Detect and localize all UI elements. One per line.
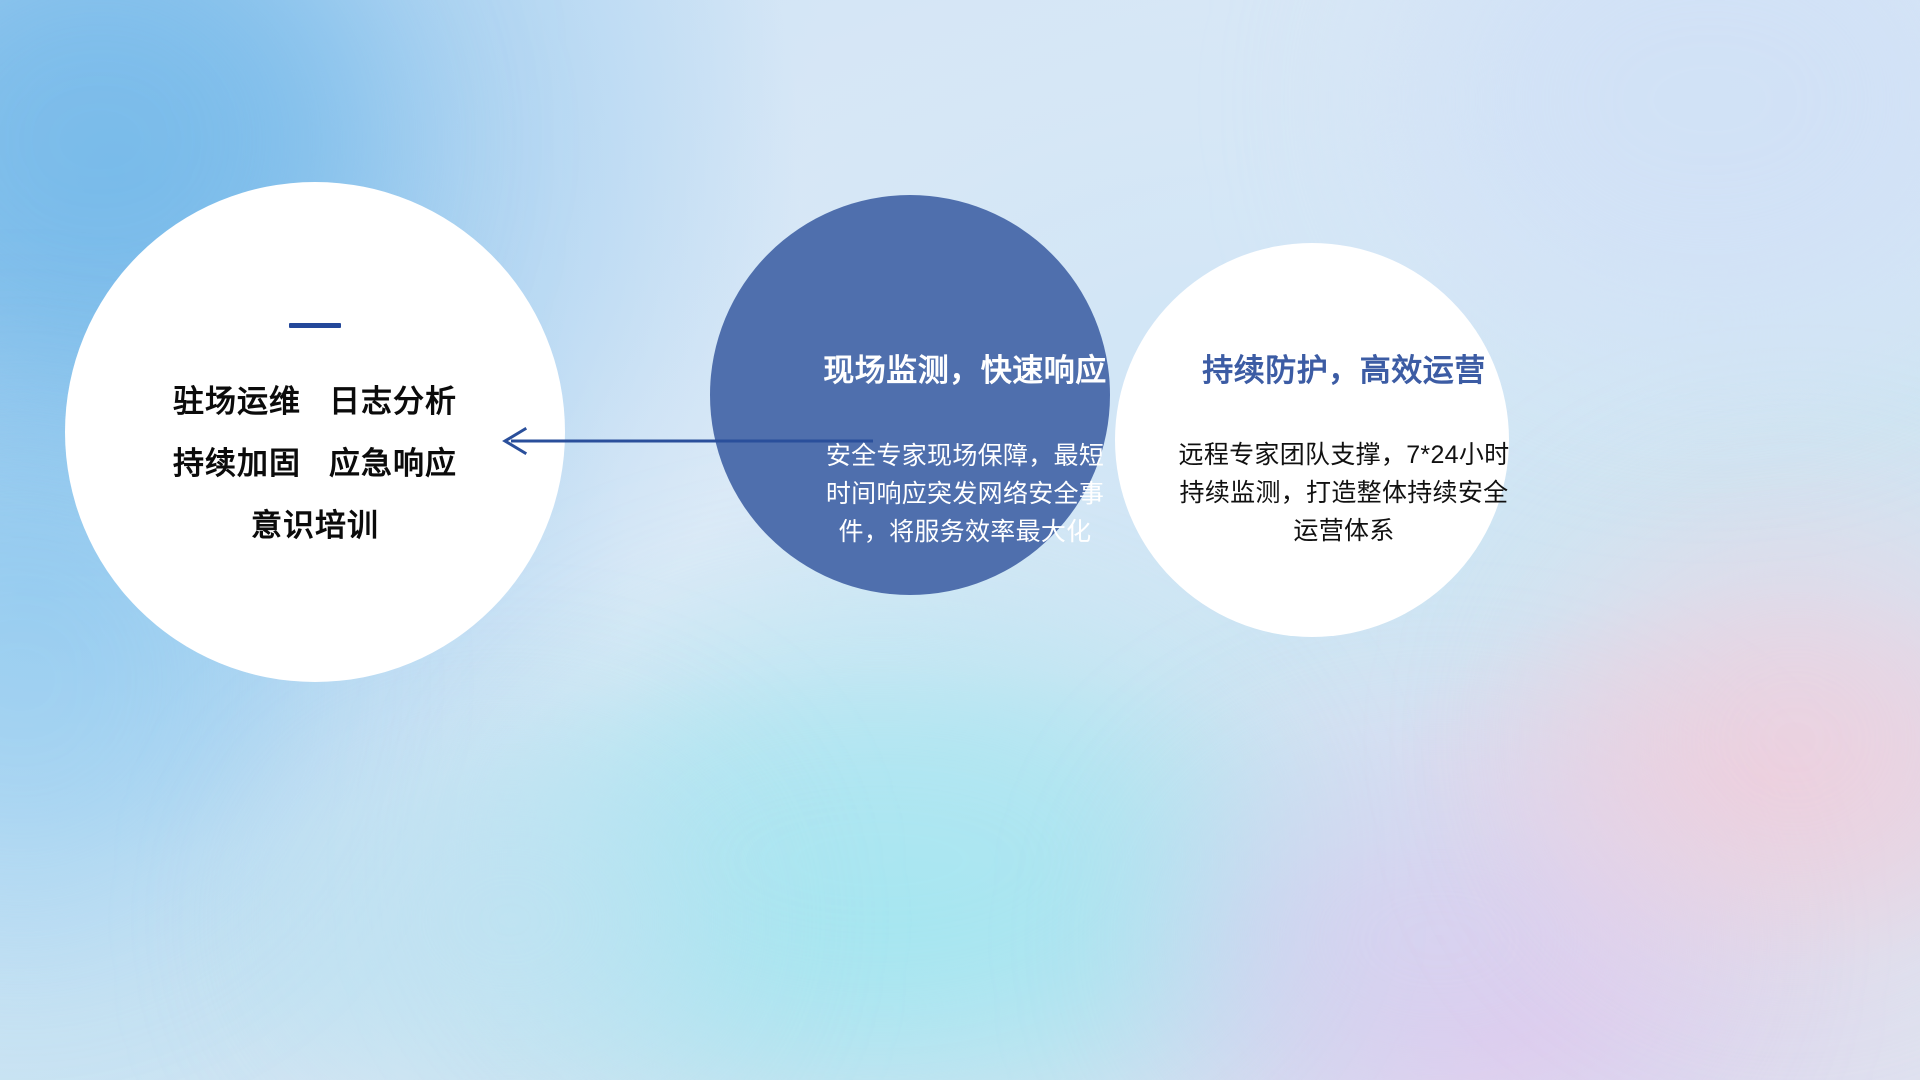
background-glow-top-right <box>1400 0 1920 360</box>
background-glow-bottom-center <box>520 640 1240 1080</box>
service-tag-rizhifenxi: 日志分析 <box>329 384 457 419</box>
left-circle-content: 驻场运维日志分析 持续加固应急响应 意识培训 <box>65 182 565 682</box>
service-tag-yingjixiangying: 应急响应 <box>329 446 457 481</box>
service-tag-zhuchangyunwei: 驻场运维 <box>173 384 301 419</box>
left-circle-line-2: 持续加固应急响应 <box>173 448 457 479</box>
left-circle-line-3: 意识培训 <box>251 510 379 541</box>
service-tag-chixujiagu: 持续加固 <box>173 446 301 481</box>
divider-dash-icon <box>289 323 341 328</box>
right-circle-shape <box>1115 243 1509 637</box>
background-glow-bottom-left <box>300 760 720 1080</box>
slide-canvas: 驻场运维日志分析 持续加固应急响应 意识培训 现场监测，快速响应 安全专家现场保… <box>0 0 1920 1080</box>
background-glow-bottom-right <box>1180 760 1700 1080</box>
service-tag-yishipeixun: 意识培训 <box>251 508 379 543</box>
left-pointing-arrow-icon <box>495 415 875 467</box>
background-glow-right <box>1560 520 1920 960</box>
center-circle-shape <box>710 195 1110 595</box>
left-circle-line-1: 驻场运维日志分析 <box>173 386 457 417</box>
